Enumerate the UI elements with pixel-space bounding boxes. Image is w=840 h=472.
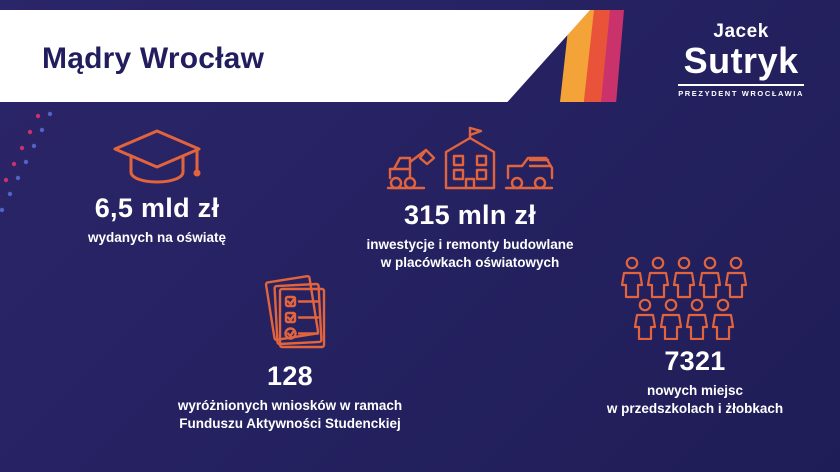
stat-education: 6,5 mld zł wydanych na oświatę <box>22 125 292 247</box>
stat-education-caption: wydanych na oświatę <box>22 229 292 247</box>
page-title: Mądry Wrocław <box>42 42 264 76</box>
stat-places-value: 7321 <box>560 346 830 377</box>
people-group-icon <box>560 255 830 340</box>
graduation-cap-icon <box>22 125 292 187</box>
stat-places: 7321 nowych miejsc w przedszkolach i żło… <box>560 255 830 418</box>
logo-subtitle: PREZYDENT WROCŁAWIA <box>678 89 804 98</box>
stat-places-caption: nowych miejsc w przedszkolach i żłobkach <box>560 382 830 418</box>
stat-education-value: 6,5 mld zł <box>22 193 292 224</box>
logo-divider <box>678 84 804 86</box>
logo-first-name: Jacek <box>678 22 804 41</box>
stat-investment: 315 mln zł inwestycje i remonty budowlan… <box>320 122 620 272</box>
stat-grants-caption: wyróżnionych wniosków w ramach Funduszu … <box>120 397 460 433</box>
checklist-documents-icon <box>120 275 460 355</box>
stat-investment-value: 315 mln zł <box>320 200 620 231</box>
logo: Jacek Sutryk PREZYDENT WROCŁAWIA <box>678 22 804 98</box>
stat-grants-value: 128 <box>120 361 460 392</box>
school-building-construction-icon <box>320 122 620 194</box>
logo-last-name: Sutryk <box>678 42 804 80</box>
stat-grants: 128 wyróżnionych wniosków w ramach Fundu… <box>120 275 460 433</box>
infographic-canvas: Mądry Wrocław Jacek Sutryk PREZYDENT WRO… <box>0 0 840 472</box>
